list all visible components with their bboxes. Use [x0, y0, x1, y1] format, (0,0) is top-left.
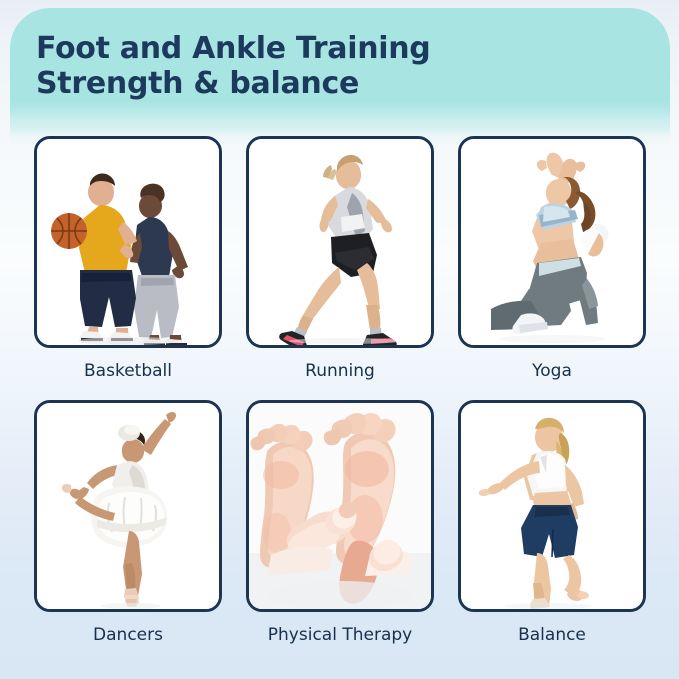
grid-cell-yoga: Yoga — [458, 136, 646, 392]
card-running[interactable] — [246, 136, 434, 348]
cell-label: Physical Therapy — [268, 625, 412, 645]
card-balance[interactable] — [458, 400, 646, 612]
yoga-photo — [461, 139, 643, 345]
card-basketball[interactable] — [34, 136, 222, 348]
page-title: Foot and Ankle Training Strength & balan… — [36, 31, 636, 101]
cell-label: Basketball — [84, 361, 172, 381]
balance-pose-photo — [461, 403, 643, 609]
card-physical-therapy[interactable] — [246, 400, 434, 612]
card-dancers[interactable] — [34, 400, 222, 612]
grid-cell-running: Running — [246, 136, 434, 392]
card-yoga[interactable] — [458, 136, 646, 348]
infographic-page: Foot and Ankle Training Strength & balan… — [0, 0, 679, 679]
grid-cell-balance: Balance — [458, 400, 646, 656]
foot-massage-photo — [249, 403, 431, 609]
grid-cell-dancers: Dancers — [34, 400, 222, 656]
cell-label: Yoga — [532, 361, 572, 381]
ballet-dancer-photo — [37, 403, 219, 609]
cell-label: Dancers — [93, 625, 163, 645]
cell-label: Running — [305, 361, 375, 381]
title-line-2: Strength & balance — [36, 66, 636, 101]
activity-grid: Basketball — [34, 136, 646, 656]
grid-cell-physical-therapy: Physical Therapy — [246, 400, 434, 656]
running-photo — [249, 139, 431, 345]
cell-label: Balance — [518, 625, 586, 645]
grid-cell-basketball: Basketball — [34, 136, 222, 392]
title-line-1: Foot and Ankle Training — [36, 31, 636, 66]
basketball-photo — [37, 139, 219, 345]
